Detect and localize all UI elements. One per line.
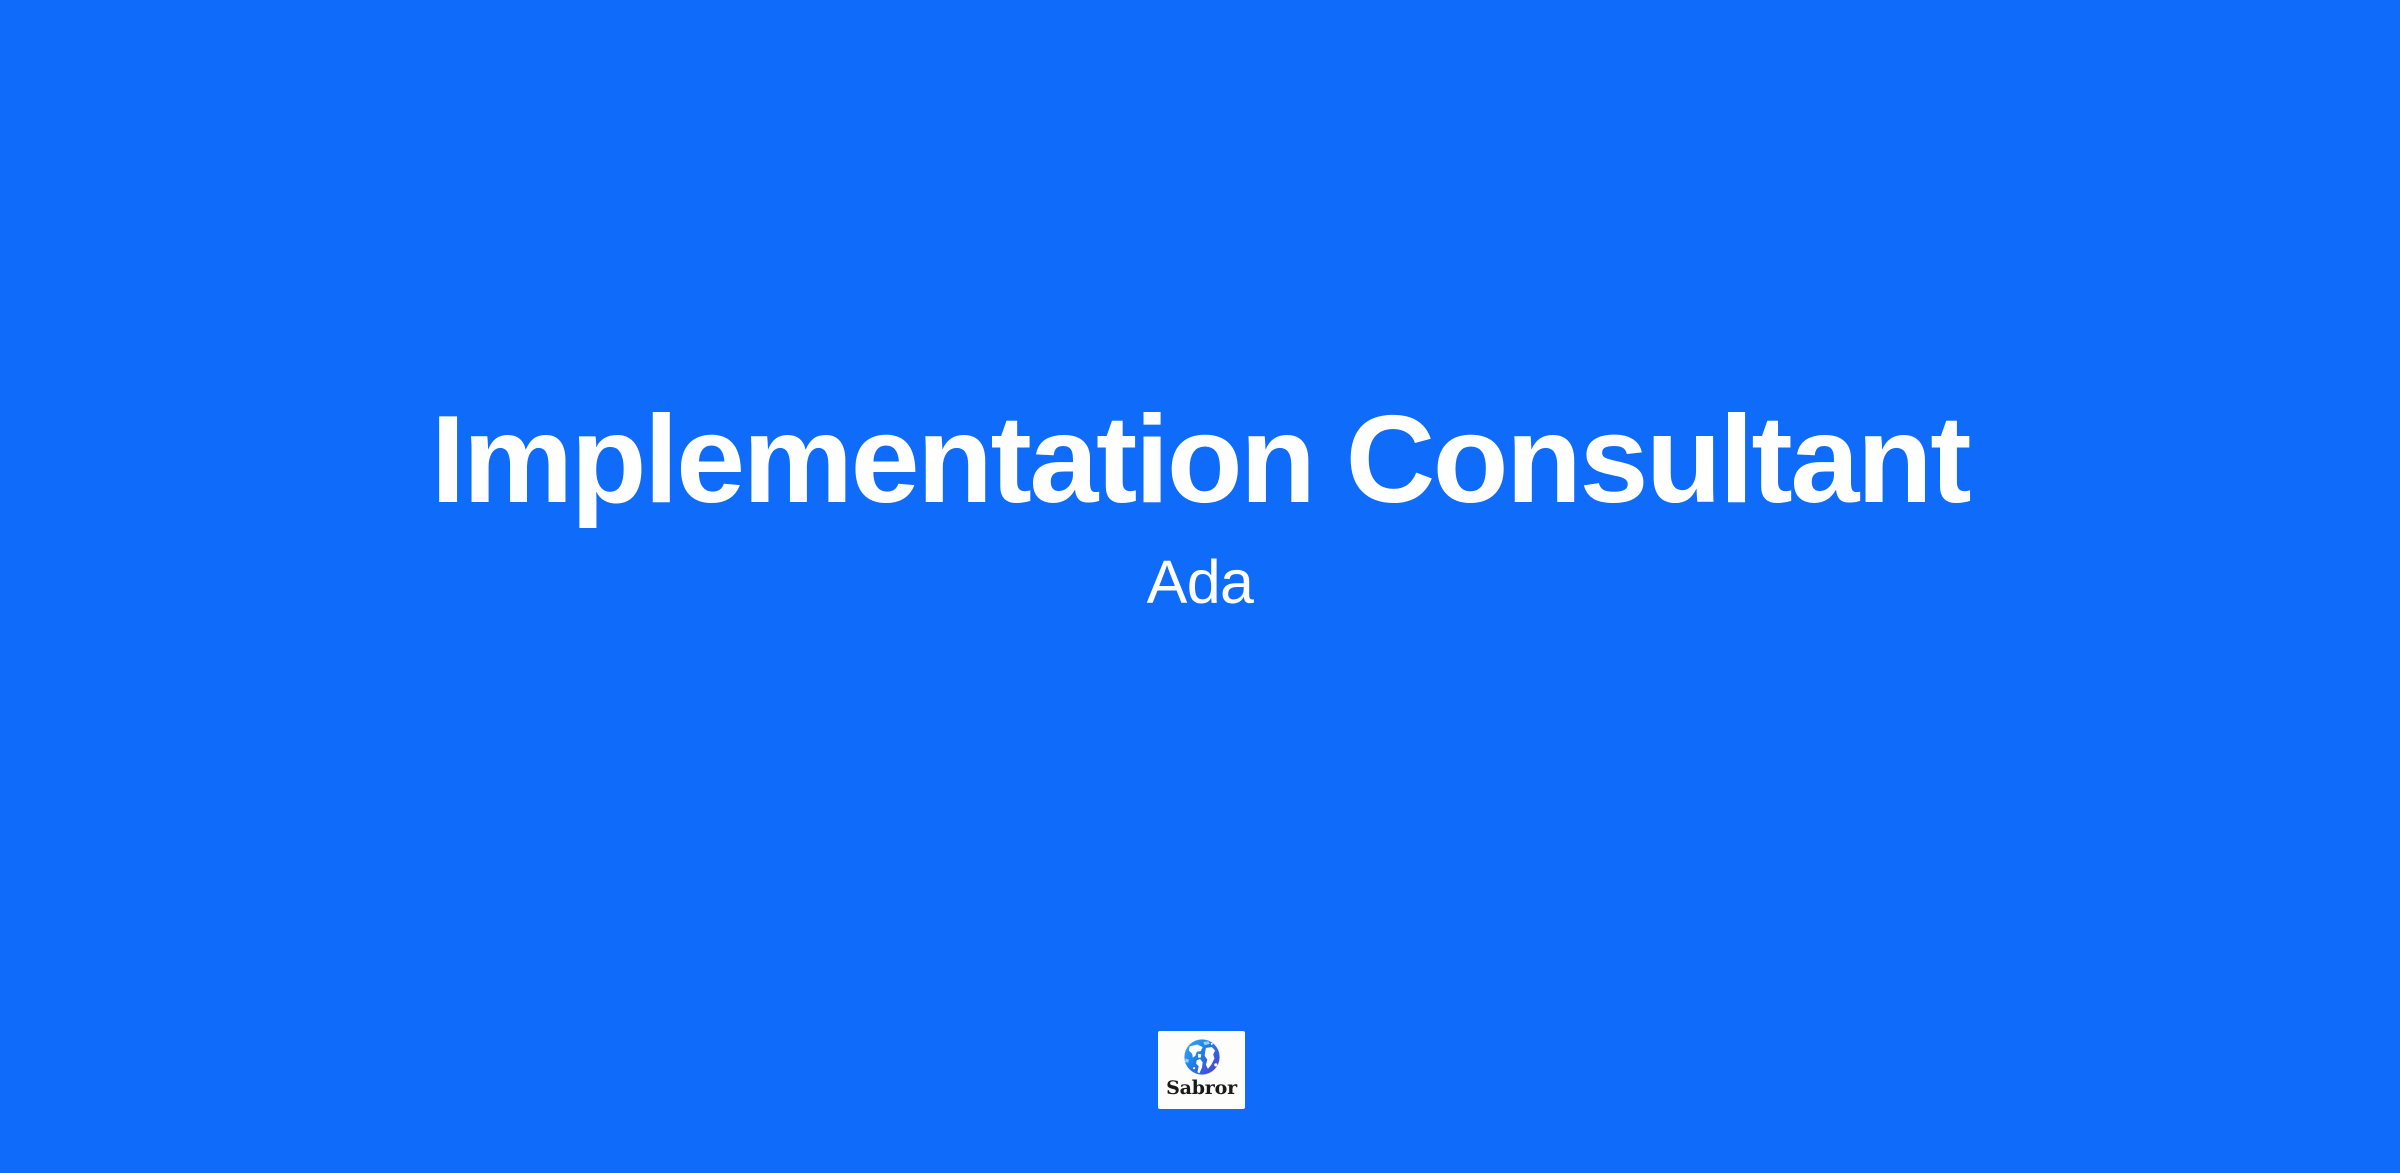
page-title: Implementation Consultant [431,398,1969,522]
page-subtitle: Ada [1147,552,1254,613]
brand-wordmark: Sabror [1166,1079,1237,1099]
globe-icon-wrapper [1181,1036,1223,1078]
brand-logo: Sabror [1158,1031,1245,1109]
globe-icon [1181,1036,1223,1078]
title-block: Implementation Consultant Ada [0,398,2400,613]
presentation-slide: Implementation Consultant Ada [0,0,2400,1173]
